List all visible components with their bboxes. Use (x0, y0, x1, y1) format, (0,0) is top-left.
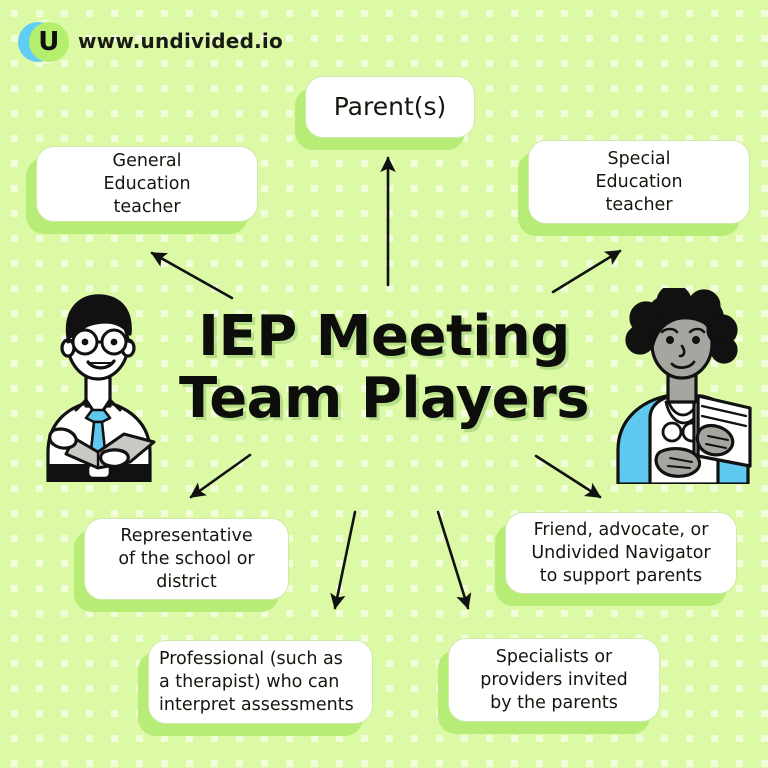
arrow-to-rep (191, 455, 250, 497)
node-label: Specialists or providers invited by the … (480, 646, 628, 715)
node-specialists-providers[interactable]: Specialists or providers invited by the … (448, 638, 660, 722)
node-card: Representative of the school or district (84, 518, 289, 600)
node-special-education-teacher[interactable]: Special Education teacher (528, 140, 750, 224)
node-label: General Education teacher (103, 150, 190, 219)
arrow-to-professional (335, 512, 355, 608)
node-card: Specialists or providers invited by the … (448, 638, 660, 722)
undivided-logo-icon[interactable]: U (16, 16, 66, 66)
arrow-to-friend (536, 456, 600, 497)
node-card: Friend, advocate, or Undivided Navigator… (505, 512, 737, 594)
logo-letter: U (29, 22, 69, 62)
node-label: Friend, advocate, or Undivided Navigator… (531, 519, 710, 588)
arrow-to-specialists (438, 512, 468, 608)
illustration-woman-with-curly-hair-holding-folder (598, 288, 766, 484)
node-school-district-representative[interactable]: Representative of the school or district (84, 518, 289, 600)
node-card: Parent(s) (305, 76, 475, 138)
illustration-man-with-glasses-reading-book (18, 282, 178, 482)
node-label: Parent(s) (334, 92, 447, 122)
node-card: General Education teacher (36, 146, 258, 222)
node-label: Professional (such as a therapist) who c… (159, 648, 354, 717)
infographic-canvas: U www.undivided.io (0, 0, 768, 768)
node-general-education-teacher[interactable]: General Education teacher (36, 146, 258, 222)
node-parents[interactable]: Parent(s) (305, 76, 475, 138)
site-url-text[interactable]: www.undivided.io (78, 29, 283, 53)
arrow-to-spec-ed (553, 251, 620, 292)
node-card: Professional (such as a therapist) who c… (148, 640, 373, 724)
node-card: Special Education teacher (528, 140, 750, 224)
node-professional-interprets-assessments[interactable]: Professional (such as a therapist) who c… (148, 640, 373, 724)
node-label: Special Education teacher (595, 148, 682, 217)
brand-header: U www.undivided.io (16, 16, 283, 66)
node-friend-advocate-navigator[interactable]: Friend, advocate, or Undivided Navigator… (505, 512, 737, 594)
node-label: Representative of the school or district (118, 525, 254, 594)
